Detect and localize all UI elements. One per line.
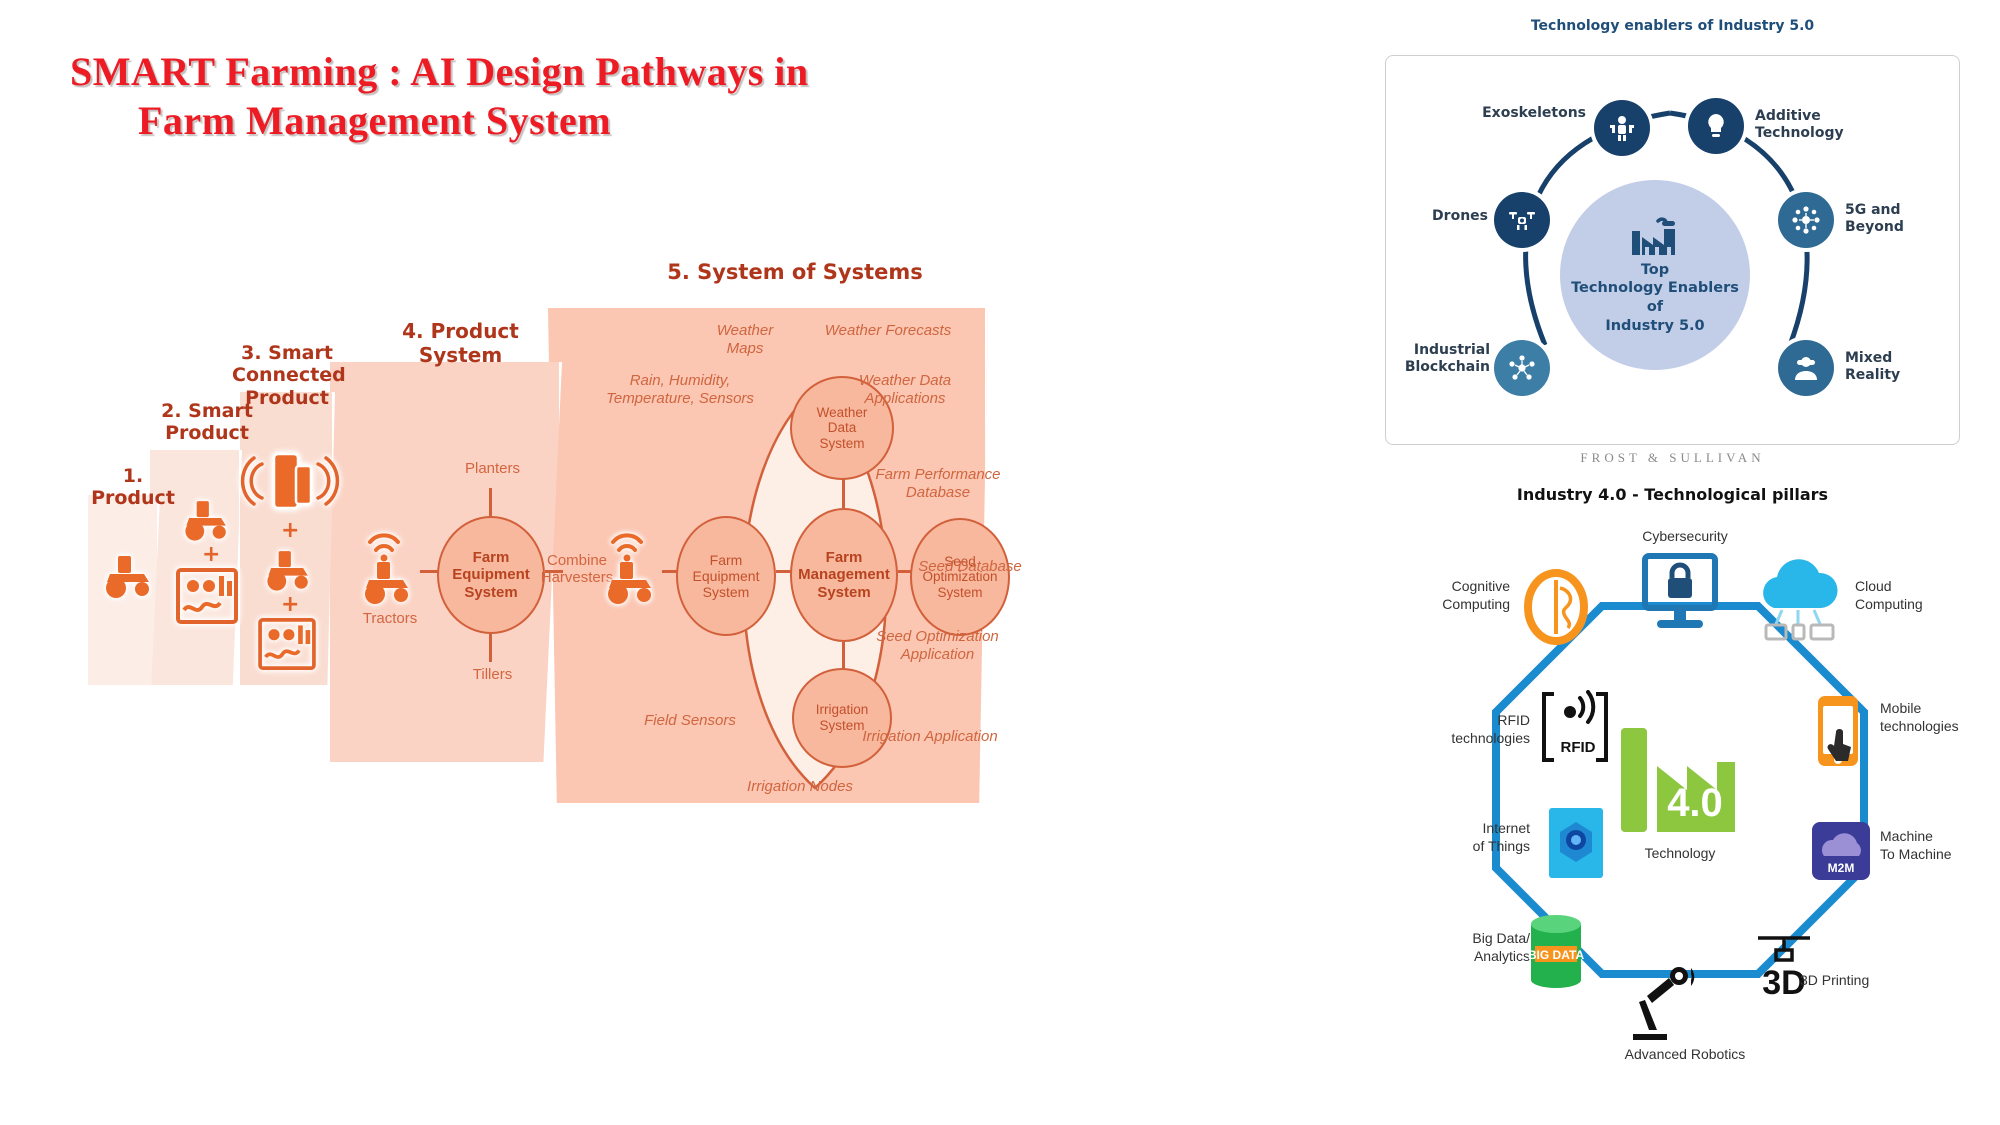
- stage-4-label: 4. Product System: [368, 320, 553, 367]
- anno-weather-maps: Weather Maps: [690, 322, 800, 358]
- anno-seed-database: Seed Database: [900, 558, 1040, 576]
- pillar-label-big-data-analytics: Big Data/ Analytics: [1420, 930, 1530, 965]
- anno-irrigation-app: Irrigation Application: [840, 728, 1020, 746]
- pillar-label-3d-printing: 3D Printing: [1800, 972, 1920, 990]
- enabler-label-additive-technology: Additive Technology: [1755, 108, 1885, 142]
- enabler-label-drones: Drones: [1398, 208, 1488, 225]
- stage4-planters-label: Planters: [440, 460, 545, 477]
- pillar-label-machine-to-machine: Machine To Machine: [1880, 828, 2000, 863]
- cloud-icon: [1748, 558, 1848, 648]
- page-title: SMART Farming : AI Design Pathways in Fa…: [70, 48, 1030, 146]
- robot-arm-icon: [1625, 960, 1711, 1040]
- tractor-icon: [96, 550, 162, 600]
- title-line-2: Farm Management System: [70, 97, 1030, 146]
- pillar-label-rfid-technologies: RFID technologies: [1400, 712, 1530, 747]
- pillar-label-cognitive-computing: Cognitive Computing: [1400, 578, 1510, 613]
- stage-5-label: 5. System of Systems: [655, 260, 935, 285]
- stage-2-label: 2. Smart Product: [152, 400, 262, 445]
- connected-tractor-icon: [352, 512, 422, 608]
- anno-irrigation-nodes: Irrigation Nodes: [700, 778, 900, 796]
- pillar-label-cybersecurity: Cybersecurity: [1605, 528, 1765, 546]
- exoskeleton-icon: [1607, 113, 1637, 143]
- node-label: Farm Management System: [798, 549, 890, 601]
- industry5-card-title: Technology enablers of Industry 5.0: [1385, 18, 1960, 34]
- frost-sullivan-attribution: FROST & SULLIVAN: [1385, 450, 1960, 466]
- technology-40-icon: 4.0: [1615, 720, 1745, 840]
- connector-line: [420, 570, 438, 573]
- enabler-label-exoskeletons: Exoskeletons: [1466, 105, 1586, 122]
- enabler-circle-mixed-reality[interactable]: [1778, 340, 1834, 396]
- industry5-center-text: Top Technology Enablers of Industry 5.0: [1571, 261, 1739, 335]
- 3d-printing-icon: 3D: [1750, 932, 1846, 1004]
- control-panel-icon: [176, 568, 238, 624]
- enabler-circle-5g-and-beyond[interactable]: [1778, 192, 1834, 248]
- enabler-circle-additive-technology[interactable]: [1688, 98, 1744, 154]
- connector-line: [489, 632, 492, 662]
- maturity-staircase-diagram: 5. System of Systems 4. Product System 3…: [0, 280, 1060, 1080]
- connector-line: [489, 488, 492, 518]
- farm-equipment-system-node: Farm Equipment System: [676, 516, 776, 636]
- pillar-label-advanced-robotics: Advanced Robotics: [1590, 1046, 1780, 1064]
- industry4-title: Industry 4.0 - Technological pillars: [1385, 485, 1960, 504]
- anno-rain-humidity-sensors: Rain, Humidity, Temperature, Sensors: [580, 372, 780, 408]
- enabler-label-5g-and-beyond: 5G and Beyond: [1845, 202, 1955, 236]
- plus-symbol: +: [281, 518, 299, 543]
- plus-symbol: +: [281, 592, 299, 617]
- big-data-icon: BIG DATA: [1525, 912, 1587, 992]
- lock-monitor-icon: [1635, 552, 1725, 638]
- control-panel-icon: [258, 618, 316, 670]
- tractor-icon: [258, 545, 320, 593]
- connected-tractor-icon: [595, 512, 665, 608]
- anno-farm-performance-db: Farm Performance Database: [858, 466, 1018, 502]
- title-line-1: SMART Farming : AI Design Pathways in: [70, 48, 1030, 97]
- enabler-circle-industrial-blockchain[interactable]: [1494, 340, 1550, 396]
- network-5g-icon: [1791, 205, 1821, 235]
- enabler-circle-exoskeletons[interactable]: [1594, 100, 1650, 156]
- plus-symbol: +: [202, 542, 220, 567]
- additive-icon: [1702, 112, 1730, 140]
- svg-text:RFID: RFID: [1561, 739, 1596, 756]
- enabler-label-industrial-blockchain: Industrial Blockchain: [1390, 342, 1490, 376]
- smart-phone-wireless-icon: [240, 448, 340, 514]
- pillar-label-mobile-technologies: Mobile technologies: [1880, 700, 2000, 735]
- m2m-icon: M2M: [1810, 820, 1872, 882]
- mobile-touch-icon: [1810, 692, 1872, 772]
- node-label: Farm Equipment System: [452, 549, 530, 601]
- anno-field-sensors: Field Sensors: [620, 712, 760, 730]
- node-label: Weather Data System: [817, 405, 868, 452]
- stage4-tractors-label: Tractors: [345, 610, 435, 627]
- stage-1-label: 1. Product: [78, 465, 188, 510]
- svg-text:BIG DATA: BIG DATA: [1528, 948, 1585, 962]
- tractor-icon: [176, 495, 238, 543]
- anno-weather-data-apps: Weather Data Applications: [830, 372, 980, 408]
- factory-icon: [1628, 215, 1682, 257]
- anno-weather-forecasts: Weather Forecasts: [808, 322, 968, 340]
- farm-management-system-node: Farm Management System: [790, 508, 898, 642]
- seed-optimization-system-node: Seed Optimization System: [910, 518, 1010, 636]
- enabler-circle-drones[interactable]: [1494, 192, 1550, 248]
- rfid-icon: RFID: [1540, 690, 1620, 764]
- blockchain-icon: [1507, 353, 1537, 383]
- mixed-reality-icon: [1791, 353, 1821, 383]
- industry5-center-circle: Top Technology Enablers of Industry 5.0: [1560, 180, 1750, 370]
- node-label: Farm Equipment System: [693, 552, 760, 600]
- connector-line: [842, 642, 845, 670]
- pillar-label-internet-of-things: Internet of Things: [1410, 820, 1530, 855]
- stage4-tillers-label: Tillers: [440, 666, 545, 683]
- connector-line: [842, 478, 845, 508]
- svg-text:4.0: 4.0: [1667, 781, 1723, 825]
- pillar-label-cloud-computing: Cloud Computing: [1855, 578, 1975, 613]
- anno-seed-optimization-app: Seed Optimization Application: [855, 628, 1020, 664]
- brain-icon: [1520, 568, 1592, 646]
- svg-text:M2M: M2M: [1828, 861, 1855, 875]
- irrigation-system-node: Irrigation System: [792, 668, 892, 768]
- enabler-label-mixed-reality: Mixed Reality: [1845, 350, 1955, 384]
- drone-icon: [1507, 205, 1537, 235]
- iot-icon: [1545, 806, 1607, 880]
- technology-center-label: Technology: [1600, 845, 1760, 861]
